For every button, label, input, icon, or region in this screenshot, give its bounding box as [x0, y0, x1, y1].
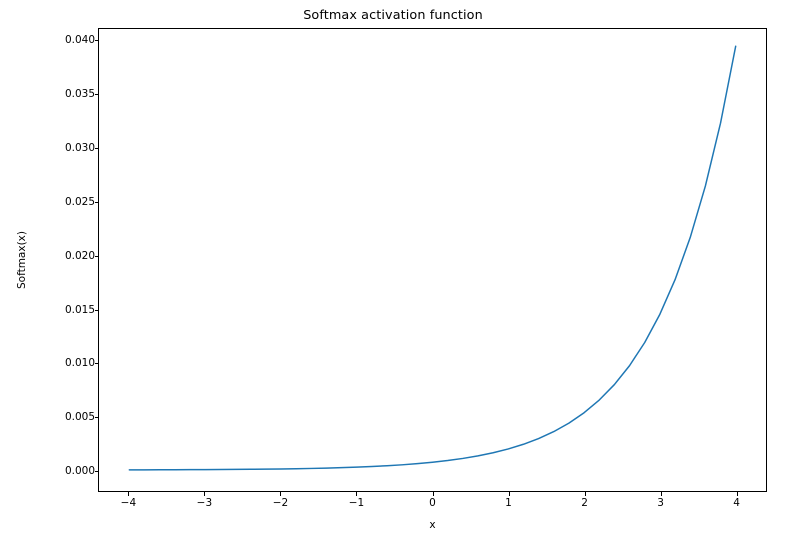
- y-tick-mark: [95, 148, 99, 149]
- x-tick-label: 4: [733, 497, 740, 509]
- y-tick-label: 0.015: [65, 304, 95, 316]
- x-axis-label: x: [98, 519, 767, 531]
- x-tick-label: 3: [657, 497, 664, 509]
- x-tick-label: 0: [429, 497, 436, 509]
- softmax-curve: [129, 46, 735, 470]
- y-tick-label: 0.020: [65, 250, 95, 262]
- x-tick-mark: [737, 492, 738, 496]
- x-tick-mark: [509, 492, 510, 496]
- x-tick-label: −1: [349, 497, 364, 509]
- y-tick-mark: [95, 40, 99, 41]
- y-tick-mark: [95, 471, 99, 472]
- plot-axes-area: [98, 28, 767, 492]
- y-tick-mark: [95, 310, 99, 311]
- x-tick-mark: [204, 492, 205, 496]
- y-tick-mark: [95, 94, 99, 95]
- x-tick-mark: [585, 492, 586, 496]
- x-tick-label: 1: [505, 497, 512, 509]
- y-tick-label: 0.035: [65, 88, 95, 100]
- x-tick-mark: [280, 492, 281, 496]
- figure-canvas: Softmax activation function −4−3−2−10123…: [0, 0, 786, 547]
- y-tick-mark: [95, 417, 99, 418]
- y-axis-label: Softmax(x): [14, 28, 30, 492]
- x-tick-label: 2: [581, 497, 588, 509]
- y-tick-label: 0.005: [65, 411, 95, 423]
- y-tick-label: 0.030: [65, 142, 95, 154]
- x-tick-mark: [661, 492, 662, 496]
- page-title: Softmax activation function: [0, 8, 786, 23]
- x-tick-mark: [356, 492, 357, 496]
- y-tick-label: 0.040: [65, 34, 95, 46]
- x-tick-label: −2: [273, 497, 288, 509]
- plot-svg: [99, 29, 766, 491]
- y-tick-label: 0.025: [65, 196, 95, 208]
- x-tick-mark: [433, 492, 434, 496]
- x-tick-mark: [128, 492, 129, 496]
- y-tick-mark: [95, 202, 99, 203]
- y-tick-mark: [95, 363, 99, 364]
- y-tick-label: 0.010: [65, 357, 95, 369]
- x-tick-label: −4: [121, 497, 136, 509]
- y-tick-label: 0.000: [65, 465, 95, 477]
- y-tick-mark: [95, 256, 99, 257]
- x-tick-label: −3: [197, 497, 212, 509]
